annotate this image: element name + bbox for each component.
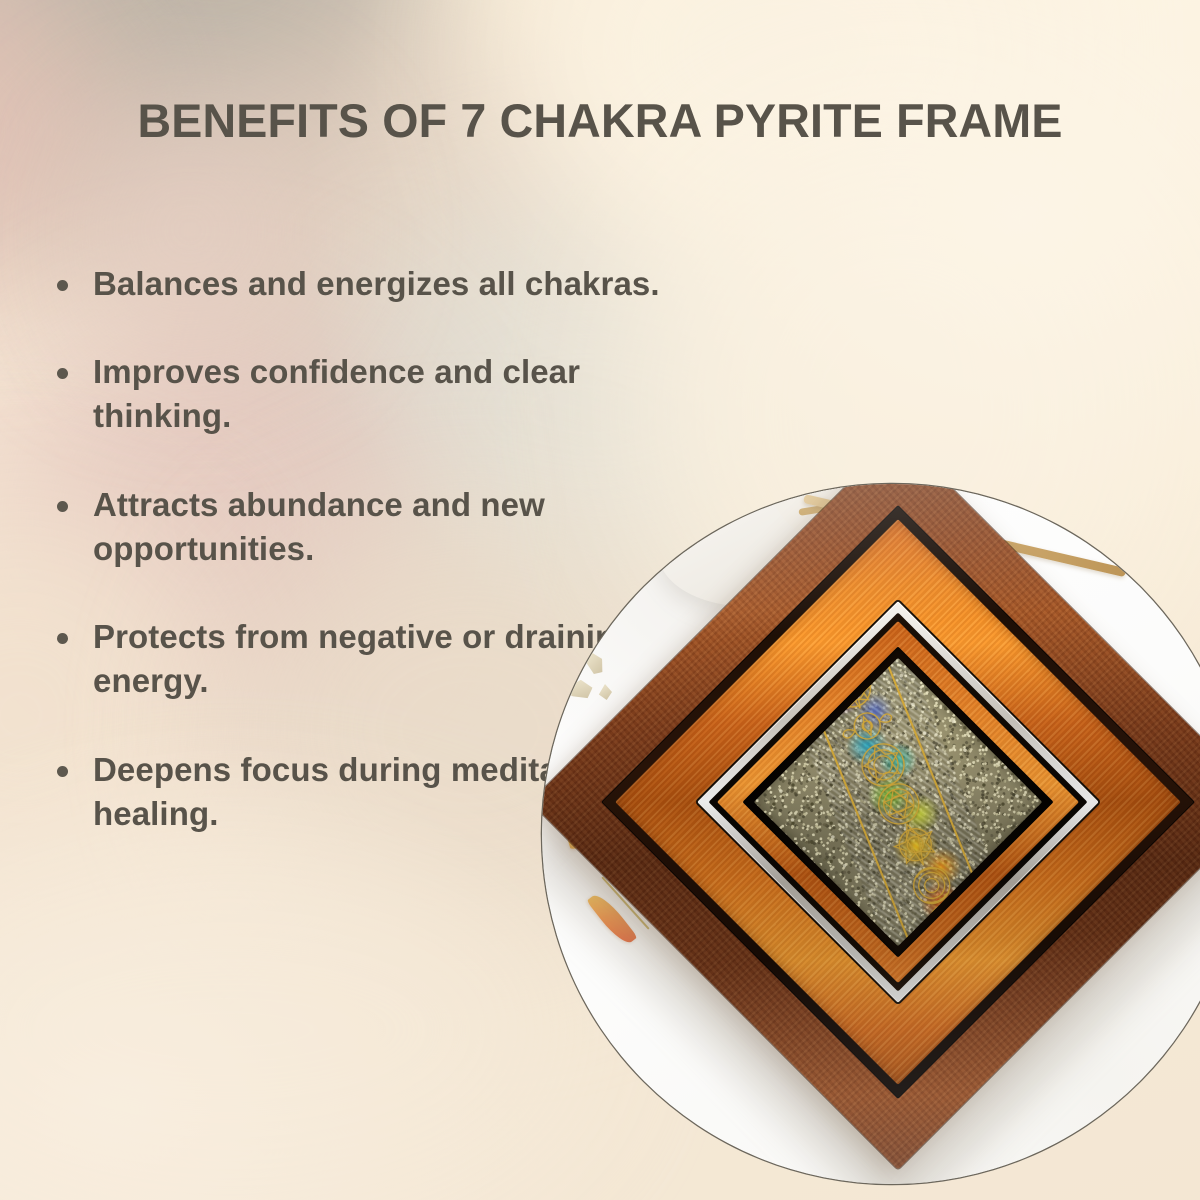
- solar-plexus-chakra-symbol: [888, 817, 942, 873]
- benefit-text: Improves confidence and clear thinking.: [93, 350, 695, 438]
- benefit-text: Attracts abundance and new opportunities…: [93, 483, 695, 571]
- bullet-dot-icon: [57, 633, 68, 644]
- third-eye-chakra-symbol: [838, 704, 896, 748]
- bullet-dot-icon: [57, 501, 68, 512]
- bullet-dot-icon: [57, 368, 68, 379]
- bullet-dot-icon: [57, 766, 68, 777]
- list-item: Balances and energizes all chakras.: [55, 262, 695, 306]
- poster-canvas: BENEFITS OF 7 CHAKRA PYRITE FRAME Balanc…: [0, 0, 1200, 1200]
- list-item: Improves confidence and clear thinking.: [55, 350, 695, 438]
- bullet-dot-icon: [57, 280, 68, 291]
- page-title: BENEFITS OF 7 CHAKRA PYRITE FRAME: [6, 93, 1194, 148]
- list-item: Attracts abundance and new opportunities…: [55, 483, 695, 571]
- benefit-text: Balances and energizes all chakras.: [93, 262, 695, 306]
